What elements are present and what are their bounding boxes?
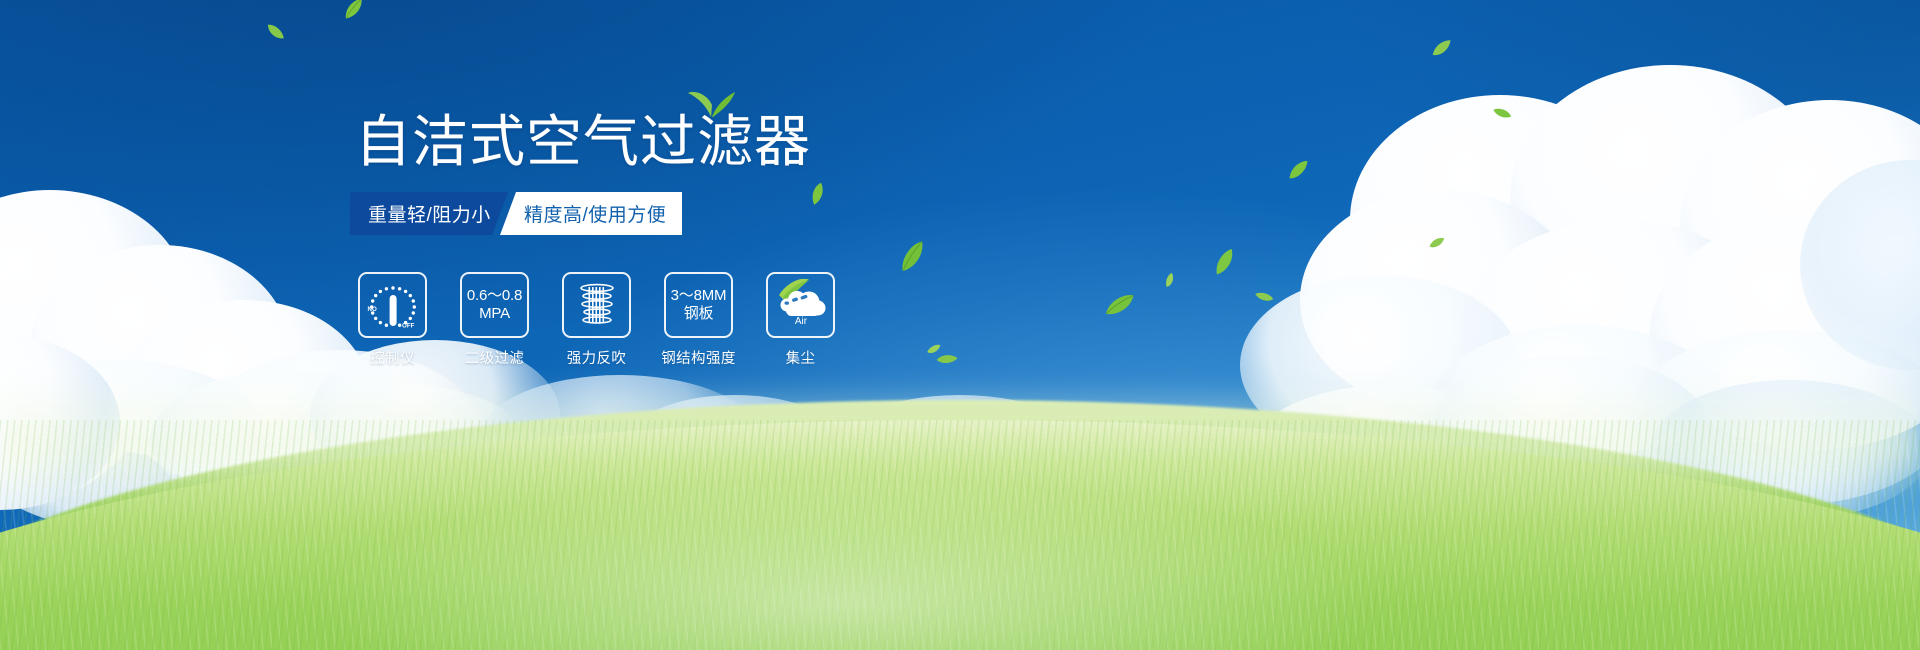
feature-label: 强力反吹 [567, 347, 627, 368]
feature-label: 二级过滤 [465, 347, 525, 368]
feature-item-steel[interactable]: 3～8MM 钢板 钢结构强度 [664, 272, 733, 368]
dust-cloud-icon: Air [773, 279, 829, 325]
feature-label: 控制仪 [370, 347, 415, 368]
badge-weight-resistance[interactable]: 重量轻/阻力小 [350, 192, 508, 235]
feature-item-dust[interactable]: Air 集尘 [766, 272, 835, 368]
steel-plate-icon: 3～8MM 钢板 [671, 287, 727, 323]
gauge-icon: NO OFF [366, 280, 420, 330]
feature-box: 3～8MM 钢板 [664, 272, 733, 338]
steel-material: 钢板 [671, 305, 727, 323]
feature-box: Air [766, 272, 835, 338]
feature-box [562, 272, 631, 338]
feature-label: 钢结构强度 [661, 347, 736, 368]
badge-precision-convenience[interactable]: 精度高/使用方便 [500, 192, 682, 235]
pressure-unit: MPA [467, 305, 522, 323]
feature-item-blowback[interactable]: 强力反吹 [562, 272, 631, 368]
banner-content: 自洁式空气过滤器 重量轻/阻力小 精度高/使用方便 [0, 0, 1920, 650]
blowback-icon [574, 281, 620, 329]
gauge-label-off: OFF [402, 323, 415, 330]
feature-item-controller[interactable]: NO OFF 控制仪 [358, 272, 427, 368]
hero-banner: 自洁式空气过滤器 重量轻/阻力小 精度高/使用方便 [0, 0, 1920, 650]
feature-item-filter[interactable]: 0.6～0.8 MPA 二级过滤 [460, 272, 529, 368]
feature-label: 集尘 [786, 347, 816, 368]
feature-box: NO OFF [358, 272, 427, 338]
pressure-icon: 0.6～0.8 MPA [467, 287, 522, 323]
pressure-range: 0.6～0.8 [467, 287, 522, 305]
title-leaf-icon [685, 88, 737, 123]
badge-row: 重量轻/阻力小 精度高/使用方便 [350, 192, 682, 235]
steel-thickness: 3～8MM [671, 287, 727, 305]
page-title: 自洁式空气过滤器 [355, 112, 811, 172]
feature-row: NO OFF 控制仪 0.6～0.8 MPA 二级过滤 [358, 272, 835, 368]
feature-box: 0.6～0.8 MPA [460, 272, 529, 338]
air-label: Air [794, 316, 807, 325]
gauge-label-no: NO [367, 306, 376, 313]
title-block: 自洁式空气过滤器 [355, 112, 811, 172]
